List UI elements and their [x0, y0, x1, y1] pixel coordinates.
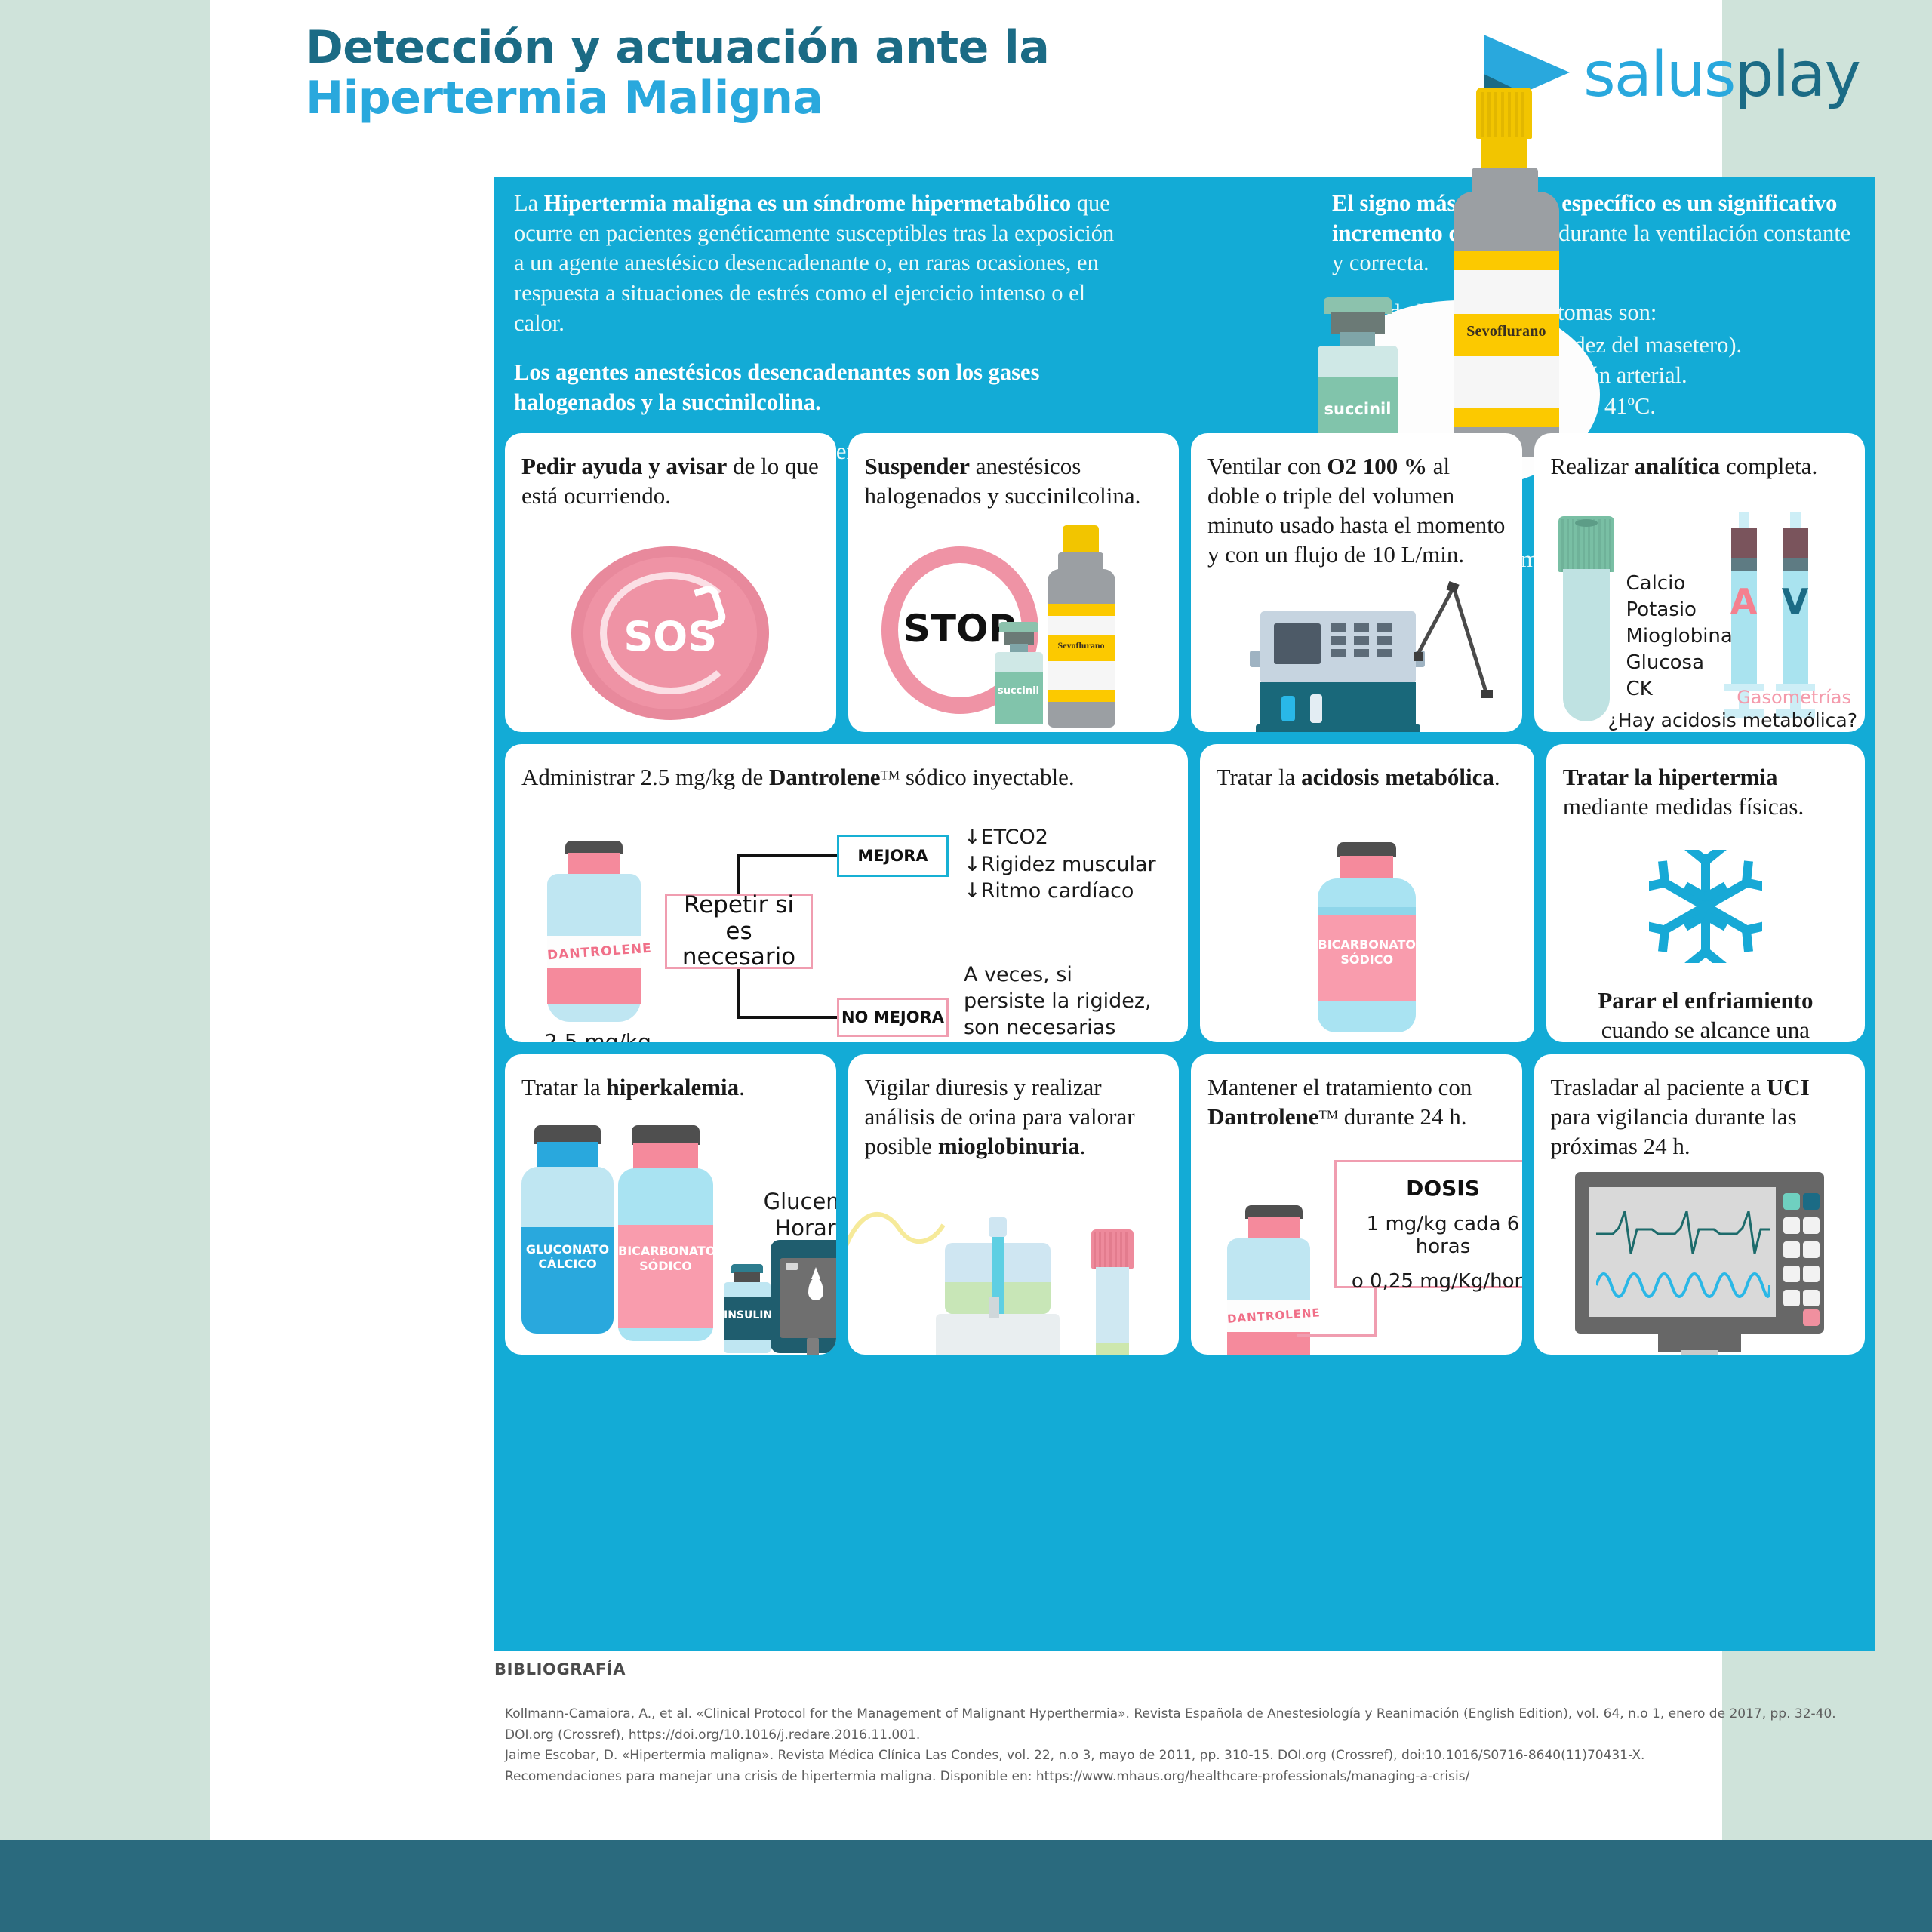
card-hiperkalemia[interactable]: Tratar la hiperkalemia. GLUCONATOCÁLCICO: [505, 1054, 836, 1355]
card-heading: Tratar la hipertermia mediante medidas f…: [1546, 744, 1865, 821]
card-analitica[interactable]: Realizar analítica completa. Calcio Pota…: [1534, 433, 1866, 732]
intro-paragraph-2: Los agentes anestésicos desencadenantes …: [514, 358, 1118, 417]
logo-play: play: [1734, 39, 1860, 111]
syringe-a-label: A: [1729, 581, 1759, 622]
dantrolene-dose: 2.5 mg/kg: [544, 1029, 651, 1042]
steps-grid: Pedir ayuda y avisar de lo que está ocur…: [494, 433, 1875, 1367]
no-mejora-note: A veces, si persiste la rigidez, son nec…: [964, 961, 1160, 1042]
succinilcolina-vial-icon: succinil: [1310, 297, 1405, 456]
list-item: Recomendaciones para manejar una crisis …: [505, 1767, 1875, 1788]
ventilator-icon: [1233, 581, 1482, 732]
dantrolene-flowchart: MEJORA NO MEJORA Repetir si es necesario…: [648, 835, 1177, 1040]
poster-page: Detección y actuación ante la Hipertermi…: [210, 0, 1722, 1840]
vitals-waveform: [1596, 1207, 1770, 1305]
list-item: Glucosa: [1626, 650, 1733, 676]
glucemia-horaria-label: Glucemia Horaria: [751, 1189, 836, 1241]
card-acidosis-metabolica[interactable]: Tratar la acidosis metabólica. BICARBONA…: [1200, 744, 1534, 1042]
intro-paragraph-1: La Hipertermia maligna es un síndrome hi…: [514, 189, 1118, 338]
sos-label: SOS: [571, 613, 769, 660]
succinilcolina-vial-icon: succinil: [990, 622, 1048, 724]
card-heading: Mantener el tratamiento con DantroleneTM…: [1191, 1054, 1522, 1131]
logo-wordmark: salusplay: [1583, 39, 1860, 111]
card-heading: Realizar analítica completa.: [1534, 433, 1866, 481]
dosis-line-1: 1 mg/kg cada 6 horas: [1337, 1213, 1522, 1258]
sos-icon: SOS: [571, 546, 769, 720]
mejora-effects-list: ↓ETCO2 ↓Rigidez muscular ↓Ritmo cardíaco: [964, 824, 1175, 905]
card-suspender-anestesicos[interactable]: Suspender anestésicos halogenados y succ…: [848, 433, 1180, 732]
sevoflurano-bottle-icon: Sevoflurano: [1444, 88, 1573, 461]
urine-sample-tube-icon: [1091, 1229, 1134, 1355]
badge-no-mejora: NO MEJORA: [837, 998, 949, 1037]
bibliography-list: Kollmann-Camaiora, A., et al. «Clinical …: [494, 1704, 1875, 1787]
succinil-label: succinil: [995, 685, 1043, 697]
card-administrar-dantrolene[interactable]: Administrar 2.5 mg/kg de DantroleneTM só…: [505, 744, 1188, 1042]
sevoflurano-bottle-icon: Sevoflurano: [1041, 525, 1123, 729]
steps-row-3: Tratar la hiperkalemia. GLUCONATOCÁLCICO: [494, 1054, 1875, 1367]
title-line-2: Hipertermia Maligna: [306, 73, 1174, 124]
patient-monitor-icon: [1575, 1172, 1824, 1352]
urine-container-icon: [936, 1314, 1060, 1355]
list-item: Mioglobina: [1626, 623, 1733, 650]
list-item: ↓Ritmo cardíaco: [964, 878, 1175, 905]
card-heading: Tratar la acidosis metabólica.: [1200, 744, 1534, 792]
card-heading: Vigilar diuresis y realizar análisis de …: [848, 1054, 1180, 1161]
sevoflurano-label: Sevoflurano: [1048, 640, 1115, 651]
card-heading: Administrar 2.5 mg/kg de DantroleneTM só…: [505, 744, 1188, 792]
glucometer-icon: [771, 1240, 836, 1353]
gasometrias-label: Gasometrías: [1534, 687, 1866, 708]
content-frame: La Hipertermia maligna es un síndrome hi…: [494, 177, 1875, 1651]
card-heading: Trasladar al paciente a UCI para vigilan…: [1534, 1054, 1866, 1161]
list-item: Potasio: [1626, 597, 1733, 623]
card-trasladar-uci[interactable]: Trasladar al paciente a UCI para vigilan…: [1534, 1054, 1866, 1355]
intro-section: La Hipertermia maligna es un síndrome hi…: [494, 177, 1875, 433]
bibliography-section: BIBLIOGRAFÍA Kollmann-Camaiora, A., et a…: [494, 1660, 1875, 1787]
cooling-note: Parar el enfriamiento cuando se alcance …: [1546, 986, 1865, 1042]
card-heading: Tratar la hiperkalemia.: [505, 1054, 836, 1102]
bicarbonato-label: BICARBONATOSÓDICO: [1318, 937, 1416, 968]
bicarbonato-label: BICARBONATOSÓDICO: [618, 1244, 713, 1273]
card-heading: Suspender anestésicos halogenados y succ…: [848, 433, 1180, 510]
acidosis-question: ¿Hay acidosis metabólica?: [1534, 709, 1866, 731]
steps-row-2: Administrar 2.5 mg/kg de DantroleneTM só…: [494, 744, 1875, 1054]
list-item: Kollmann-Camaiora, A., et al. «Clinical …: [505, 1704, 1875, 1725]
card-tratar-hipertermia[interactable]: Tratar la hipertermia mediante medidas f…: [1546, 744, 1865, 1042]
dosis-title: DOSIS: [1337, 1176, 1522, 1201]
card-mantener-dantrolene[interactable]: Mantener el tratamiento con DantroleneTM…: [1191, 1054, 1522, 1355]
bicarbonato-bottle-icon: BICARBONATOSÓDICO: [618, 1125, 713, 1341]
insulina-vial-icon: INSULINA: [724, 1264, 771, 1353]
list-item: ↓Rigidez muscular: [964, 851, 1175, 878]
card-pedir-ayuda[interactable]: Pedir ayuda y avisar de lo que está ocur…: [505, 433, 836, 732]
snowflake-icon: [1649, 850, 1762, 963]
card-ventilar-o2[interactable]: Ventilar con O2 100 % al doble o triple …: [1191, 433, 1522, 732]
gluconato-calcico-bottle-icon: GLUCONATOCÁLCICO: [521, 1125, 614, 1334]
card-heading: Pedir ayuda y avisar de lo que está ocur…: [505, 433, 836, 510]
bicarbonato-bottle-icon: BICARBONATOSÓDICO: [1318, 842, 1416, 1032]
list-item: ↓ETCO2: [964, 824, 1175, 851]
succinil-label: succinil: [1318, 400, 1398, 418]
insulina-label: INSULINA: [724, 1309, 771, 1321]
list-item: Jaime Escobar, D. «Hipertermia maligna».…: [505, 1746, 1875, 1767]
dose-connector: [1294, 1288, 1380, 1355]
bibliography-heading: BIBLIOGRAFÍA: [494, 1660, 1875, 1678]
bottom-band: [0, 1840, 1932, 1932]
title-line-1: Detección y actuación ante la: [306, 23, 1174, 73]
page-title: Detección y actuación ante la Hipertermi…: [306, 23, 1174, 124]
lab-tests-list: Calcio Potasio Mioglobina Glucosa CK: [1626, 571, 1733, 703]
list-item: DOI.org (Crossref), https://doi.org/10.1…: [505, 1725, 1875, 1746]
sevoflurano-label: Sevoflurano: [1454, 323, 1559, 340]
badge-repetir: Repetir si es necesario: [665, 894, 813, 969]
dantrolene-vial-icon: DANTROLENE: [544, 841, 644, 1022]
badge-mejora: MEJORA: [837, 835, 949, 877]
dosis-line-2: o 0,25 mg/Kg/hora: [1337, 1270, 1522, 1293]
list-item: Calcio: [1626, 571, 1733, 597]
gluconato-label: GLUCONATOCÁLCICO: [521, 1242, 614, 1272]
dosis-box: DOSIS 1 mg/kg cada 6 horas o 0,25 mg/Kg/…: [1334, 1160, 1522, 1288]
card-heading: Ventilar con O2 100 % al doble o triple …: [1191, 433, 1522, 569]
ventilator-arm-icon: [1414, 581, 1497, 717]
card-vigilar-diuresis[interactable]: Vigilar diuresis y realizar análisis de …: [848, 1054, 1180, 1355]
steps-row-1: Pedir ayuda y avisar de lo que está ocur…: [494, 433, 1875, 744]
syringe-v-label: V: [1780, 581, 1810, 622]
